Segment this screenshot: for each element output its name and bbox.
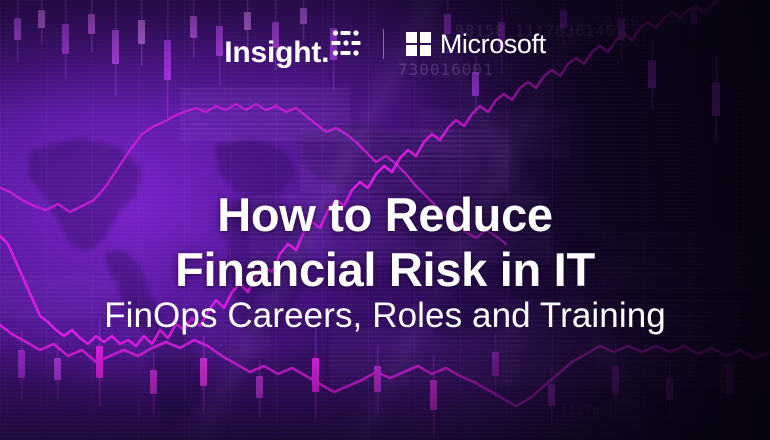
microsoft-wordmark: Microsoft bbox=[440, 31, 546, 58]
page-title: How to Reduce Financial Risk in IT bbox=[0, 188, 770, 298]
logo-lockup-row: Insight. bbox=[0, 22, 770, 66]
page-subtitle: FinOps Careers, Roles and Training bbox=[0, 297, 770, 336]
insight-wordmark: Insight. bbox=[224, 38, 329, 68]
insight-dots-and-bars-mark bbox=[331, 29, 361, 57]
headline-line-2: Financial Risk in IT bbox=[0, 243, 770, 298]
logo-divider bbox=[383, 29, 384, 59]
promo-banner: 98158 1117836146 730016001 0146 11178 In… bbox=[0, 0, 770, 440]
insight-logo: Insight. bbox=[224, 29, 361, 59]
banner-content: Insight. bbox=[0, 0, 770, 440]
microsoft-logo: Microsoft bbox=[406, 31, 545, 58]
microsoft-four-pane-window-mark bbox=[406, 32, 431, 57]
headline-line-1: How to Reduce bbox=[217, 188, 553, 241]
